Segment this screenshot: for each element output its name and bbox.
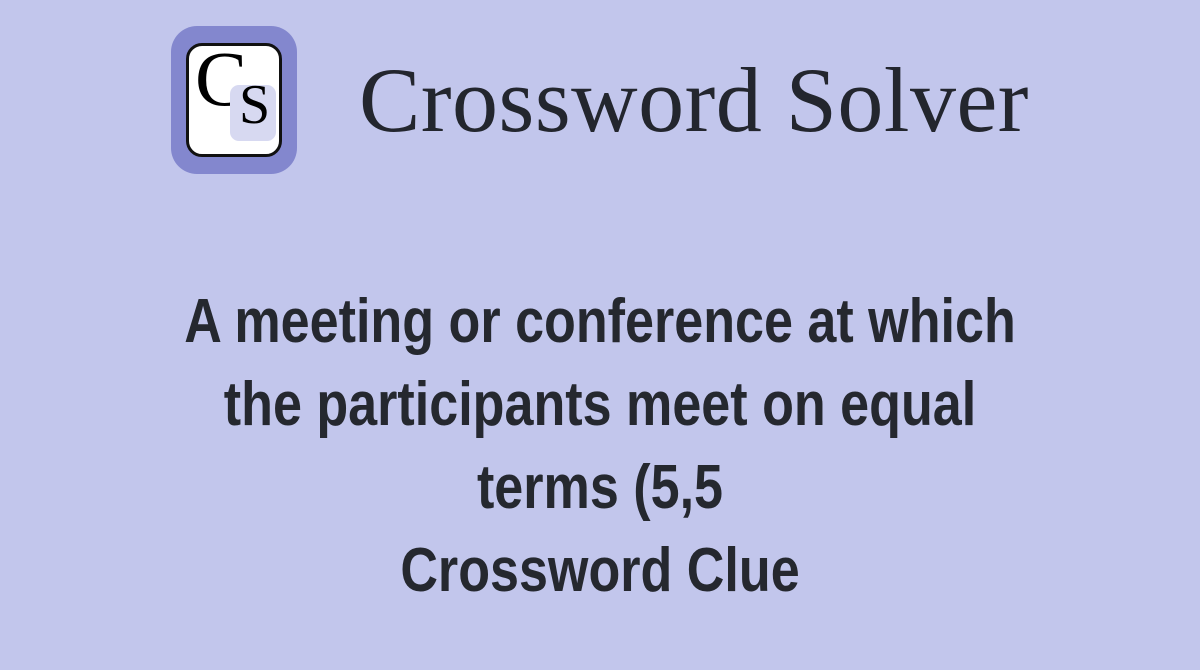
logo-tile: C S <box>186 43 282 157</box>
crossword-solver-logo-icon: C S <box>171 26 297 174</box>
page-title-line-2: the participants meet on equal <box>167 363 1032 446</box>
page-title-line-1: A meeting or conference at which <box>167 280 1032 363</box>
page-root: C S Crossword Solver A meeting or confer… <box>0 0 1200 670</box>
logo-letter-s: S <box>239 77 270 133</box>
brand-home-link[interactable]: C S Crossword Solver <box>171 26 1029 174</box>
page-title-line-4: Crossword Clue <box>167 529 1032 612</box>
page-title: A meeting or conference at which the par… <box>85 280 1115 612</box>
site-header: C S Crossword Solver <box>0 0 1200 205</box>
logo-letter-s-highlight: S <box>230 85 276 141</box>
page-title-line-3: terms (5,5 <box>167 446 1032 529</box>
site-title: Crossword Solver <box>359 54 1029 146</box>
